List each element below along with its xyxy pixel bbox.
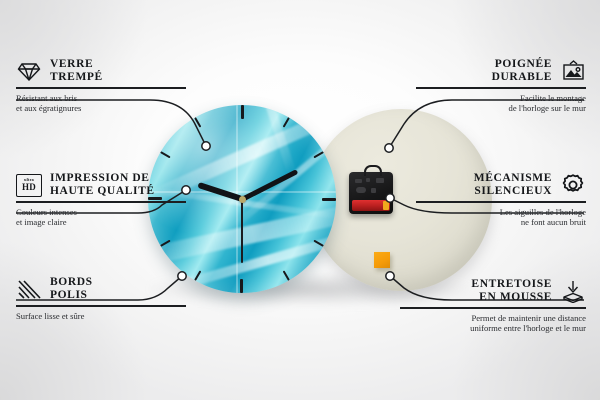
feature-description: Couleurs intenses et image claire	[16, 207, 186, 228]
feature-divider	[16, 201, 186, 203]
feature-divider	[416, 201, 586, 203]
gear-icon	[560, 173, 586, 197]
hanging-frame-icon	[560, 59, 586, 83]
feature-divider	[16, 87, 186, 89]
movement-detail	[376, 178, 384, 183]
feature-divider	[400, 307, 586, 309]
feature-header: ultra HD IMPRESSION DE HAUTE QUALITÉ	[16, 172, 186, 198]
feature-description: Les aiguilles de l'horloge ne font aucun…	[416, 207, 586, 228]
feature-description: Facilite le montage de l'horloge sur le …	[416, 93, 586, 114]
feature-header: POIGNÉE DURABLE	[416, 58, 586, 84]
movement-detail	[371, 188, 376, 193]
feature-title: MÉCANISME SILENCIEUX	[416, 172, 552, 198]
clock-movement-mechanism	[349, 172, 393, 214]
polished-edges-icon	[16, 277, 42, 301]
feature-divider	[416, 87, 586, 89]
feature-bords-polis: BORDS POLIS Surface lisse et sûre	[16, 276, 186, 321]
feature-title: POIGNÉE DURABLE	[416, 58, 552, 84]
ultra-hd-icon: ultra HD	[16, 173, 42, 197]
movement-detail	[355, 179, 362, 183]
infographic-canvas: VERRE TREMPÉ Résistant aux bris et aux é…	[0, 0, 600, 400]
foam-spacer-pad	[374, 252, 390, 268]
feature-header: ENTRETOISE EN MOUSSE	[400, 278, 586, 304]
feature-impression-haute-qualite: ultra HD IMPRESSION DE HAUTE QUALITÉ Cou…	[16, 172, 186, 227]
ultra-hd-badge-main: HD	[22, 183, 36, 192]
feature-description: Résistant aux bris et aux égratignures	[16, 93, 186, 114]
hands-center-cap	[239, 196, 246, 203]
feature-title: ENTRETOISE EN MOUSSE	[400, 278, 552, 304]
movement-detail	[366, 178, 370, 182]
feature-title: IMPRESSION DE HAUTE QUALITÉ	[50, 172, 186, 198]
feature-description: Permet de maintenir une distance uniform…	[400, 313, 586, 334]
feature-header: BORDS POLIS	[16, 276, 186, 302]
feature-verre-trempe: VERRE TREMPÉ Résistant aux bris et aux é…	[16, 58, 186, 113]
feature-entretoise-en-mousse: ENTRETOISE EN MOUSSE Permet de maintenir…	[400, 278, 586, 333]
diamond-icon	[16, 59, 42, 83]
feature-header: VERRE TREMPÉ	[16, 58, 186, 84]
feature-title: BORDS POLIS	[50, 276, 186, 302]
feature-title: VERRE TREMPÉ	[50, 58, 186, 84]
battery	[352, 200, 390, 211]
feature-poignee-durable: POIGNÉE DURABLE Facilite le montage de l…	[416, 58, 586, 113]
second-hand	[241, 199, 243, 263]
feature-description: Surface lisse et sûre	[16, 311, 186, 321]
movement-hanger-loop	[364, 165, 382, 176]
movement-detail	[356, 187, 366, 193]
hour-marker	[241, 105, 243, 199]
feature-header: MÉCANISME SILENCIEUX	[416, 172, 586, 198]
hour-marker	[242, 198, 336, 200]
feature-mecanisme-silencieux: MÉCANISME SILENCIEUX Les aiguilles de l'…	[416, 172, 586, 227]
feature-divider	[16, 305, 186, 307]
foam-spacer-icon	[560, 279, 586, 303]
